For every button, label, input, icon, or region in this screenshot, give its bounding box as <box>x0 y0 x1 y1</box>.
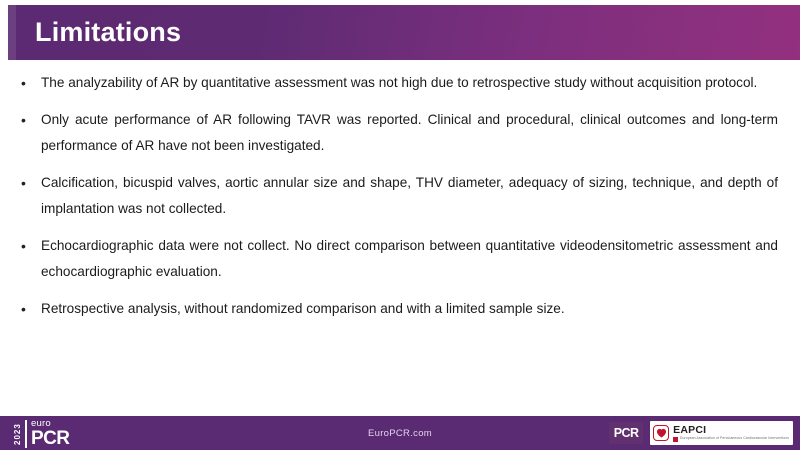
list-item: • The analyzability of AR by quantitativ… <box>0 70 800 96</box>
bullet-text: Calcification, bicuspid valves, aortic a… <box>41 170 778 222</box>
footer-website-text: EuroPCR.com <box>368 428 432 439</box>
list-item: • Calcification, bicuspid valves, aortic… <box>0 170 800 222</box>
bullet-text: Echocardiographic data were not collect.… <box>41 233 778 285</box>
bullet-icon: • <box>17 233 41 259</box>
eapci-logo-badge: EAPCI European Association of Percutaneo… <box>650 421 793 445</box>
bullet-text: The analyzability of AR by quantitative … <box>41 70 778 96</box>
bullet-text: Retrospective analysis, without randomiz… <box>41 296 778 322</box>
eapci-subtitle: European Association of Percutaneous Car… <box>680 437 789 440</box>
eapci-square-icon <box>673 437 678 442</box>
bullet-text: Only acute performance of AR following T… <box>41 107 778 159</box>
heart-icon <box>653 425 669 441</box>
slide: Limitations • The analyzability of AR by… <box>0 0 800 450</box>
bullet-list: • The analyzability of AR by quantitativ… <box>0 70 800 333</box>
pcr-logo-badge: PCR <box>609 422 643 444</box>
bullet-icon: • <box>17 70 41 96</box>
bullet-icon: • <box>17 107 41 133</box>
eapci-subtitle-row: European Association of Percutaneous Car… <box>673 437 789 442</box>
list-item: • Only acute performance of AR following… <box>0 107 800 159</box>
list-item: • Echocardiographic data were not collec… <box>0 233 800 285</box>
slide-footer: 2023 euro PCR EuroPCR.com PCR EA <box>0 416 800 450</box>
eapci-name: EAPCI <box>673 425 789 436</box>
footer-logos: PCR EAPCI European Association of Percut… <box>609 419 793 447</box>
pcr-logo-text: PCR <box>614 426 639 440</box>
eapci-text-block: EAPCI European Association of Percutaneo… <box>673 425 789 442</box>
page-title: Limitations <box>35 19 181 46</box>
slide-header-band: Limitations <box>8 5 800 60</box>
bullet-icon: • <box>17 170 41 196</box>
bullet-icon: • <box>17 296 41 322</box>
list-item: • Retrospective analysis, without random… <box>0 296 800 322</box>
